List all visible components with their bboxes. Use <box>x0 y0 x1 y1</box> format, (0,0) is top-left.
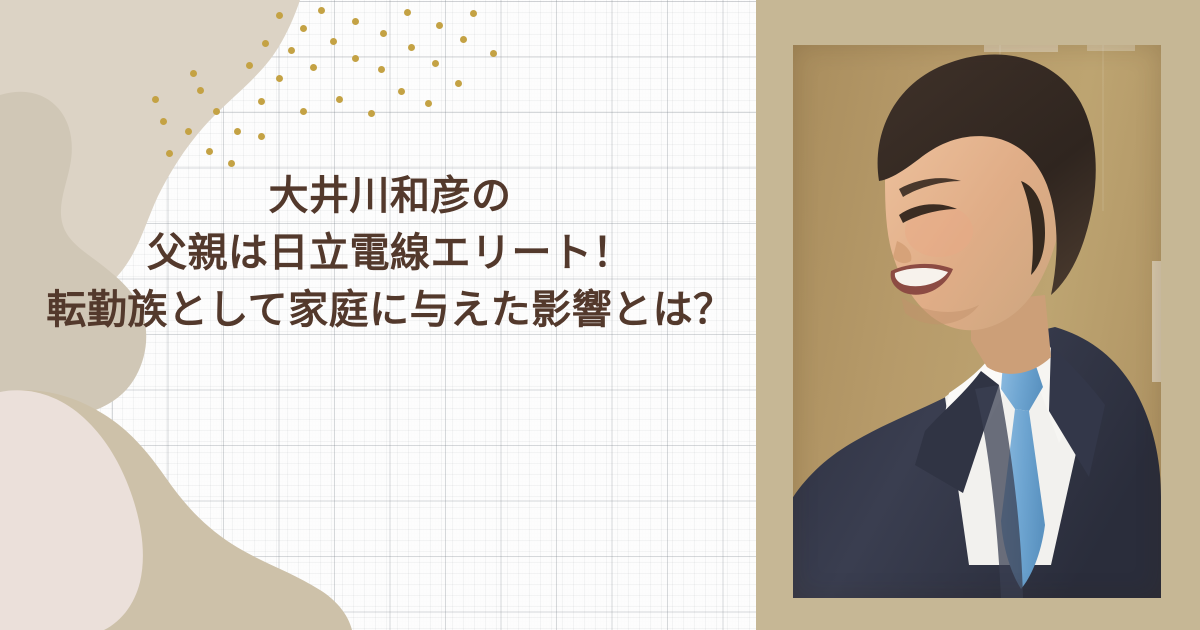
og-card: 大井川和彦の 父親は日立電線エリート！ 転勤族として家庭に与えた影響とは？ <box>0 0 1200 630</box>
page-title: 大井川和彦の 父親は日立電線エリート！ 転勤族として家庭に与えた影響とは？ <box>20 168 760 339</box>
photo-frame <box>756 0 1200 630</box>
portrait-subject <box>793 45 1161 598</box>
portrait-photo <box>793 45 1161 598</box>
title-line-3: 転勤族として家庭に与えた影響とは？ <box>20 282 760 339</box>
title-line-2: 父親は日立電線エリート！ <box>20 225 760 282</box>
title-line-1: 大井川和彦の <box>20 168 760 225</box>
